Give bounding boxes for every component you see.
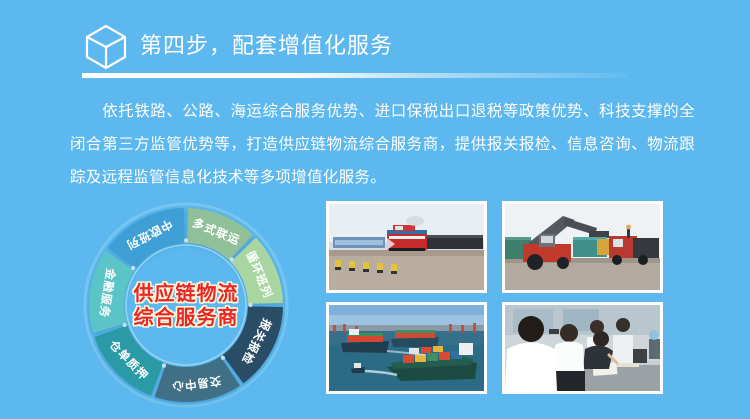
- supply-chain-donut-diagram: 多式联运循环班列报关报检交易中心仓单质押金融服务中欧班列 供应链物流 综合服务商: [62, 196, 310, 414]
- donut-inner-rim: [126, 245, 246, 365]
- segment-joint-dot: [184, 238, 188, 242]
- segment-joint-dot: [162, 364, 166, 368]
- segment-joint-dot: [123, 323, 127, 327]
- segment-joint-dot: [221, 356, 225, 360]
- donut-segments: [89, 208, 283, 402]
- segment-joint-dot: [131, 266, 135, 270]
- photo-container-ships-harbor[interactable]: [326, 302, 487, 394]
- cube-icon: [84, 24, 128, 70]
- page-header: 第四步，配套增值化服务: [0, 0, 750, 86]
- photo-officials-signing-documents[interactable]: [502, 302, 663, 394]
- photo-grid: [326, 201, 663, 394]
- photo-reach-stacker-containers[interactable]: [502, 201, 663, 293]
- title-divider: [82, 73, 627, 78]
- slide-background: 第四步，配套增值化服务 依托铁路、公路、海运综合服务优势、进口保税出口退税等政策…: [0, 0, 750, 419]
- donut-svg: 多式联运循环班列报关报检交易中心仓单质押金融服务中欧班列: [62, 196, 310, 414]
- paragraph-text: 依托铁路、公路、海运综合服务优势、进口保税出口退税等政策优势、科技支撑的全闭合第…: [70, 102, 695, 186]
- body-paragraph: 依托铁路、公路、海运综合服务优势、进口保税出口退税等政策优势、科技支撑的全闭合第…: [70, 95, 695, 194]
- page-title: 第四步，配套增值化服务: [140, 28, 393, 60]
- segment-joint-dot: [248, 303, 252, 307]
- segment-joint-dot: [230, 257, 234, 261]
- photo-red-locomotive-rail-yard[interactable]: [326, 201, 487, 293]
